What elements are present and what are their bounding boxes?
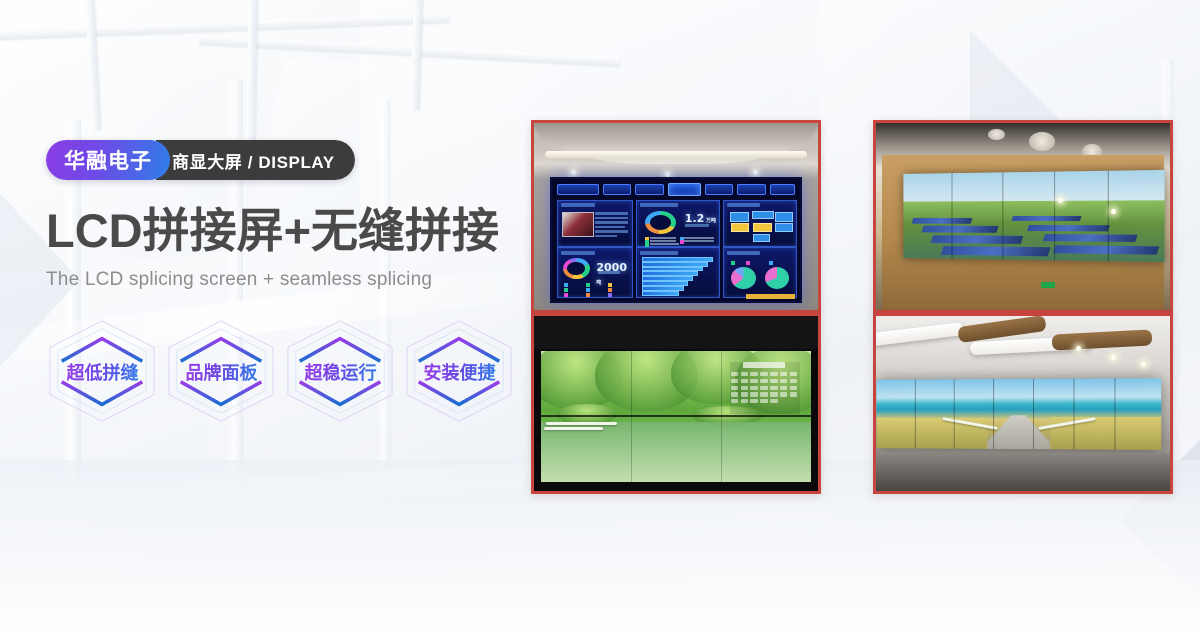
calendar-week-row <box>730 379 800 383</box>
solar-panel-array <box>1011 216 1081 221</box>
flow-node <box>753 223 772 231</box>
lakeside-railing <box>544 427 603 430</box>
dashboard-panel-flow-diagram <box>723 200 797 247</box>
feature-badge: 安装便捷 <box>403 317 516 427</box>
feature-badge: 品牌面板 <box>165 317 278 427</box>
dashboard-panel-ranking-bars <box>636 247 720 298</box>
calendar-week-row <box>730 372 800 376</box>
legend-swatch <box>769 261 773 265</box>
legend-swatch <box>608 293 612 297</box>
solar-panel-array <box>1042 234 1137 242</box>
feature-badge-label: 超稳运行 <box>305 359 377 385</box>
legend-swatch <box>586 288 590 292</box>
banner-text-column: 华融电子 商显大屏 / DISPLAY LCD拼接屏+无缝拼接 The LCD … <box>46 140 516 427</box>
photo-content: 1.2 万吨 <box>534 123 818 310</box>
panel-text-line <box>595 221 628 223</box>
calendar-day-cell <box>731 379 739 383</box>
dashboard-nav-chip <box>635 184 663 196</box>
dashboard-nav-chip <box>603 184 631 196</box>
legend-label <box>684 237 714 239</box>
feature-badge: 超低拼缝 <box>46 317 159 427</box>
calendar-day-cell <box>770 392 778 396</box>
screen-bezel-seam <box>1054 171 1055 260</box>
calendar-day-cell <box>741 379 749 383</box>
legend-swatch <box>586 293 590 297</box>
panel-text-line <box>595 226 625 228</box>
product-banner: 华融电子 商显大屏 / DISPLAY LCD拼接屏+无缝拼接 The LCD … <box>0 0 1200 640</box>
lcd-video-wall-screen <box>877 378 1162 450</box>
lake-water <box>541 422 811 482</box>
calendar-day-cell <box>731 386 739 390</box>
calendar-day-cell <box>790 372 798 376</box>
ceiling-spotlight <box>665 172 670 177</box>
calendar-day-cell <box>790 386 798 390</box>
dashboard-panel-intro <box>557 200 634 247</box>
exit-sign <box>1041 282 1056 288</box>
ceiling-spotlight <box>753 170 758 175</box>
pie-chart <box>765 267 790 289</box>
legend-swatch <box>564 283 568 287</box>
lakeside-railing <box>546 422 616 425</box>
screen-bezel-seam <box>1114 378 1115 449</box>
sky-region <box>903 170 1164 204</box>
calendar-day-cell <box>750 386 758 390</box>
feature-badge: 超稳运行 <box>284 317 397 427</box>
dashboard-panel-pie-charts <box>723 247 797 298</box>
flow-node <box>752 211 774 219</box>
calendar-day-cell <box>750 392 758 396</box>
legend-swatch <box>586 283 590 287</box>
ceiling-downlight <box>1111 355 1116 360</box>
donut-chart-hole <box>650 215 671 230</box>
calendar-day-cell <box>780 372 788 376</box>
photo-content <box>876 316 1170 491</box>
calendar-day-cell <box>780 392 788 396</box>
ranking-bar <box>642 291 678 296</box>
calendar-day-cell <box>780 386 788 390</box>
calendar-day-cell <box>760 386 768 390</box>
legend-label <box>684 240 714 242</box>
kpi-caption <box>685 224 710 227</box>
calendar-widget <box>730 362 800 415</box>
page-subtitle: The LCD splicing screen + seamless splic… <box>46 269 516 291</box>
legend-label <box>650 240 676 242</box>
solar-panel-array <box>921 226 998 233</box>
panel-title <box>561 203 595 207</box>
wall-mount-bracket <box>534 432 541 444</box>
legend-swatch <box>564 293 568 297</box>
pie-chart <box>731 267 756 289</box>
panel-title <box>561 251 595 255</box>
screen-bezel-seam <box>541 415 811 417</box>
product-photo-beach-boardwalk-video-wall <box>873 313 1173 494</box>
flow-node <box>753 234 769 242</box>
dashboard-panel-donut-kpi: 1.2 万吨 <box>636 200 720 247</box>
legend-swatch <box>608 288 612 292</box>
panel-text-line <box>595 230 628 232</box>
dashboard-nav-chip <box>770 184 796 196</box>
panel-title <box>727 203 760 207</box>
calendar-day-cell <box>731 372 739 376</box>
wall-mount-bracket <box>534 362 541 374</box>
screen-bezel-seam <box>954 379 955 448</box>
wall-mount-bracket <box>534 397 541 409</box>
calendar-day-cell <box>750 372 758 376</box>
dashboard-footer-chip <box>746 294 796 299</box>
panel-text-line <box>595 235 617 237</box>
ceiling-downlight <box>1076 346 1081 351</box>
calendar-day-cell <box>760 372 768 376</box>
kpi-caption <box>598 271 620 274</box>
product-photo-willow-lake-video-wall <box>531 313 821 494</box>
calendar-day-cell <box>770 399 778 403</box>
dashboard-nav-chip <box>705 184 733 196</box>
calendar-day-cell <box>780 379 788 383</box>
ceiling-light-cove <box>545 151 806 158</box>
screen-bezel-seam <box>1033 379 1034 449</box>
upper-dark-bezel <box>534 316 818 349</box>
calendar-day-cell <box>731 399 739 403</box>
photo-content <box>534 316 818 491</box>
product-photo-dashboard-video-wall: 1.2 万吨 <box>531 120 821 313</box>
dashboard-top-bar <box>557 183 796 196</box>
calendar-day-cell <box>760 399 768 403</box>
floor <box>876 453 1170 492</box>
feature-badge-list: 超低拼缝 品牌面板 超稳运行 <box>46 317 516 427</box>
calendar-day-cell <box>741 372 749 376</box>
calendar-day-cell <box>750 379 758 383</box>
legend-swatch <box>731 261 735 265</box>
legend-swatch <box>564 288 568 292</box>
solar-panel-array <box>931 235 1024 244</box>
calendar-day-cell <box>741 392 749 396</box>
lcd-video-wall-screen <box>541 351 811 482</box>
lcd-video-wall-screen <box>903 170 1164 262</box>
ceiling-light <box>988 129 1006 140</box>
product-photo-solar-farm-video-wall <box>873 120 1173 313</box>
screen-bezel-seam <box>951 173 952 259</box>
flow-node <box>730 212 749 221</box>
panel-thumbnail-image <box>562 212 594 237</box>
calendar-header <box>743 362 785 369</box>
dashboard-panel-kpi-secondary: 2000 吨 <box>557 247 634 298</box>
lcd-video-wall-screen: 1.2 万吨 <box>550 177 803 302</box>
screen-bezel-seam <box>1002 172 1003 259</box>
dashboard-title-bar <box>668 183 701 196</box>
calendar-day-cell <box>731 392 739 396</box>
panel-text-line <box>595 212 628 214</box>
calendar-day-cell <box>741 386 749 390</box>
calendar-day-cell <box>770 386 778 390</box>
page-title: LCD拼接屏+无缝拼接 <box>46 206 516 256</box>
feature-badge-label: 品牌面板 <box>186 359 258 385</box>
screen-bezel-seam <box>1073 379 1074 450</box>
flow-node <box>775 223 793 231</box>
calendar-day-cell <box>750 399 758 403</box>
solar-panel-array <box>940 245 1050 255</box>
legend-swatch <box>608 283 612 287</box>
brand-category: 商显大屏 / DISPLAY <box>156 140 355 180</box>
dashboard-timestamp <box>557 184 600 196</box>
calendar-day-cell <box>790 379 798 383</box>
solar-panel-array <box>1052 245 1159 254</box>
calendar-week-row <box>730 386 800 390</box>
calendar-day-cell <box>790 392 798 396</box>
calendar-day-cell <box>741 399 749 403</box>
flow-node <box>775 212 793 221</box>
legend-swatch <box>746 261 750 265</box>
dashboard-nav-chip <box>737 184 765 196</box>
ceiling-spotlight <box>571 170 576 175</box>
panel-title <box>727 251 760 255</box>
calendar-week-row <box>730 392 800 396</box>
calendar-day-cell <box>770 379 778 383</box>
calendar-day-cell <box>760 379 768 383</box>
legend-label <box>650 243 680 245</box>
screen-bezel-seam <box>993 379 994 449</box>
panel-text-line <box>595 217 628 219</box>
calendar-week-row <box>730 399 800 403</box>
brand-name: 华融电子 <box>46 140 170 180</box>
ceiling-downlight <box>1141 362 1146 367</box>
feature-badge-label: 安装便捷 <box>424 359 496 385</box>
legend-label <box>650 237 676 239</box>
calendar-day-cell <box>760 392 768 396</box>
calendar-day-cell <box>770 372 778 376</box>
panel-title <box>640 203 678 207</box>
brand-badge: 华融电子 商显大屏 / DISPLAY <box>46 140 355 180</box>
solar-panel-array <box>912 217 973 223</box>
screen-bezel-seam <box>1108 170 1109 260</box>
feature-badge-label: 超低拼缝 <box>67 359 139 385</box>
photo-content <box>876 123 1170 310</box>
screen-bezel-seam <box>915 380 916 449</box>
flow-node <box>731 223 749 231</box>
panel-title <box>640 251 678 255</box>
solar-panel-array <box>1026 224 1108 231</box>
